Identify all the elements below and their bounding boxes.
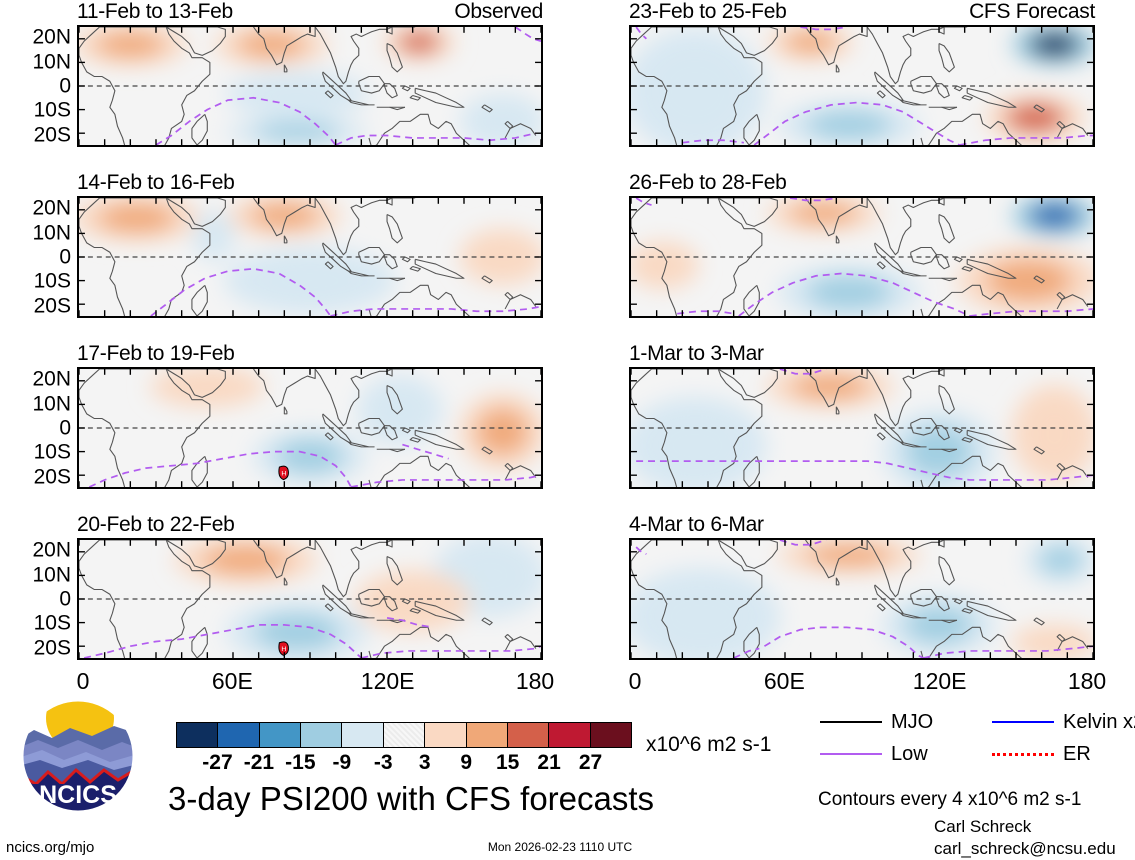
x-axis-tick-label: 0 bbox=[77, 670, 90, 693]
page-title: 3-day PSI200 with CFS forecasts bbox=[168, 782, 654, 815]
colorbar-cell bbox=[260, 723, 301, 747]
y-axis-tick-label: 20N bbox=[32, 27, 71, 48]
colorbar-tick-label: 21 bbox=[537, 752, 560, 773]
panel-obs-2: 14-Feb to 16-Feb 20N10N010S20S bbox=[77, 196, 543, 318]
map-contour-field bbox=[631, 540, 1093, 658]
map-contour-field bbox=[631, 27, 1093, 145]
map-plot-area bbox=[77, 196, 543, 318]
x-axis-tick-label: 60E bbox=[212, 670, 253, 693]
map-plot-area bbox=[629, 538, 1095, 660]
y-axis-tick-label: 20S bbox=[34, 124, 71, 145]
colorbar-cell bbox=[591, 723, 631, 747]
y-axis-tick-label: 10S bbox=[34, 100, 71, 121]
colorbar-cell bbox=[549, 723, 590, 747]
colorbar-tick-label: -27 bbox=[202, 752, 232, 773]
colorbar-tick-label: 15 bbox=[496, 752, 519, 773]
panel-title: 11-Feb to 13-Feb bbox=[77, 1, 233, 22]
panel-obs-1: 11-Feb to 13-FebObserved 20N10N010S20S bbox=[77, 25, 543, 147]
panel-fcs-3: 1-Mar to 3-Mar bbox=[629, 367, 1095, 489]
contours-note: Contours every 4 x10^6 m2 s-1 bbox=[818, 790, 1081, 809]
y-axis-tick-label: 0 bbox=[59, 418, 71, 439]
map-contour-field bbox=[631, 198, 1093, 316]
colorbar-tick-label: -3 bbox=[374, 752, 393, 773]
x-axis-labels: 060E120E180 bbox=[77, 660, 543, 694]
colorbar-tick-label: -21 bbox=[244, 752, 274, 773]
ncics-logo-text: NCICS bbox=[39, 781, 117, 809]
colorbar: -27-21-15-9-339152127 bbox=[176, 722, 632, 748]
y-axis-tick-label: 10N bbox=[32, 564, 71, 585]
legend: MJOKelvin x2LowER bbox=[820, 712, 1135, 774]
x-axis-tick-label: 120E bbox=[913, 670, 967, 693]
legend-label: MJO bbox=[891, 712, 933, 732]
legend-item-kelvin-x2: Kelvin x2 bbox=[992, 712, 1135, 732]
panel-title: 23-Feb to 25-Feb bbox=[629, 1, 786, 22]
legend-line-swatch bbox=[820, 721, 882, 723]
y-axis-tick-label: 20N bbox=[32, 369, 71, 390]
map-plot-area bbox=[629, 196, 1095, 318]
y-axis-tick-label: 10N bbox=[32, 51, 71, 72]
panel-title: 20-Feb to 22-Feb bbox=[77, 514, 234, 535]
author-name: Carl Schreck bbox=[934, 818, 1031, 835]
legend-line-swatch bbox=[992, 753, 1054, 756]
legend-item-low: Low bbox=[820, 744, 928, 764]
panel-obs-4: 20-Feb to 22-Feb H20N10N010S20S060E120E1… bbox=[77, 538, 543, 660]
y-axis-tick-label: 20N bbox=[32, 540, 71, 561]
colorbar-cell bbox=[177, 723, 218, 747]
site-url-link[interactable]: ncics.org/mjo bbox=[6, 840, 94, 855]
tropical-cyclone-symbol: H bbox=[279, 466, 289, 479]
panel-title: 1-Mar to 3-Mar bbox=[629, 343, 764, 364]
panel-fcs-1: 23-Feb to 25-FebCFS Forecast bbox=[629, 25, 1095, 147]
map-plot-area: H bbox=[77, 538, 543, 660]
map-plot-area bbox=[629, 25, 1095, 147]
colorbar-strip bbox=[176, 722, 632, 748]
y-axis-labels: 20N10N010S20S bbox=[5, 25, 77, 147]
y-axis-tick-label: 20S bbox=[34, 466, 71, 487]
y-axis-tick-label: 0 bbox=[59, 76, 71, 97]
legend-label: Kelvin x2 bbox=[1063, 712, 1135, 732]
colorbar-cell bbox=[342, 723, 383, 747]
panel-fcs-2: 26-Feb to 28-Feb bbox=[629, 196, 1095, 318]
y-axis-tick-label: 10S bbox=[34, 442, 71, 463]
y-axis-tick-label: 20S bbox=[34, 295, 71, 316]
colorbar-units-label: x10^6 m2 s-1 bbox=[646, 734, 771, 755]
colorbar-cell bbox=[425, 723, 466, 747]
map-plot-area bbox=[77, 25, 543, 147]
colorbar-tick-label: -9 bbox=[332, 752, 351, 773]
legend-item-er: ER bbox=[992, 744, 1091, 764]
legend-line-swatch bbox=[820, 753, 882, 755]
legend-label: ER bbox=[1063, 744, 1091, 764]
map-contour-field bbox=[79, 27, 541, 145]
colorbar-tick-label: 27 bbox=[579, 752, 602, 773]
map-plot-area bbox=[629, 367, 1095, 489]
map-plot-area: H bbox=[77, 367, 543, 489]
panel-obs-3: 17-Feb to 19-Feb H20N10N010S20S bbox=[77, 367, 543, 489]
timestamp: Mon 2026-02-23 1110 UTC bbox=[488, 841, 632, 853]
colorbar-cell bbox=[508, 723, 549, 747]
author-email: carl_schreck@ncsu.edu bbox=[934, 840, 1116, 857]
panel-title: 26-Feb to 28-Feb bbox=[629, 172, 786, 193]
colorbar-cell bbox=[467, 723, 508, 747]
colorbar-cell bbox=[218, 723, 259, 747]
y-axis-tick-label: 0 bbox=[59, 247, 71, 268]
colorbar-cell bbox=[301, 723, 342, 747]
colorbar-tick-label: 9 bbox=[460, 752, 472, 773]
y-axis-tick-label: 10S bbox=[34, 613, 71, 634]
colorbar-tick-labels: -27-21-15-9-339152127 bbox=[176, 748, 632, 778]
y-axis-tick-label: 10S bbox=[34, 271, 71, 292]
x-axis-tick-label: 180 bbox=[516, 670, 554, 693]
legend-item-mjo: MJO bbox=[820, 712, 933, 732]
y-axis-tick-label: 10N bbox=[32, 222, 71, 243]
map-contour-field bbox=[631, 369, 1093, 487]
column-header: CFS Forecast bbox=[969, 1, 1095, 22]
panel-title: 14-Feb to 16-Feb bbox=[77, 172, 234, 193]
x-axis-tick-label: 180 bbox=[1068, 670, 1106, 693]
x-axis-labels: 060E120E180 bbox=[629, 660, 1095, 694]
y-axis-tick-label: 0 bbox=[59, 589, 71, 610]
ncics-logo: NCICS bbox=[18, 700, 138, 812]
y-axis-tick-label: 20N bbox=[32, 198, 71, 219]
svg-text:H: H bbox=[281, 646, 286, 653]
x-axis-tick-label: 60E bbox=[764, 670, 805, 693]
legend-line-swatch bbox=[992, 721, 1054, 723]
map-contour-field: H bbox=[79, 540, 541, 658]
map-contour-field: H bbox=[79, 369, 541, 487]
y-axis-labels: 20N10N010S20S bbox=[5, 538, 77, 660]
y-axis-tick-label: 10N bbox=[32, 393, 71, 414]
legend-label: Low bbox=[891, 744, 928, 764]
figure-root: 11-Feb to 13-FebObserved 20N10N010S20S14… bbox=[0, 0, 1135, 860]
map-contour-field bbox=[79, 198, 541, 316]
panel-fcs-4: 4-Mar to 6-Mar 060E120E180 bbox=[629, 538, 1095, 660]
colorbar-tick-label: -15 bbox=[285, 752, 315, 773]
column-header: Observed bbox=[454, 1, 543, 22]
x-axis-tick-label: 120E bbox=[361, 670, 415, 693]
colorbar-cell bbox=[384, 723, 425, 747]
y-axis-tick-label: 20S bbox=[34, 637, 71, 658]
colorbar-tick-label: 3 bbox=[419, 752, 431, 773]
ncics-logo-icon: NCICS bbox=[18, 700, 138, 812]
x-axis-tick-label: 0 bbox=[629, 670, 642, 693]
panel-title: 17-Feb to 19-Feb bbox=[77, 343, 234, 364]
y-axis-labels: 20N10N010S20S bbox=[5, 367, 77, 489]
svg-text:H: H bbox=[281, 470, 286, 477]
panel-title: 4-Mar to 6-Mar bbox=[629, 514, 764, 535]
y-axis-labels: 20N10N010S20S bbox=[5, 196, 77, 318]
